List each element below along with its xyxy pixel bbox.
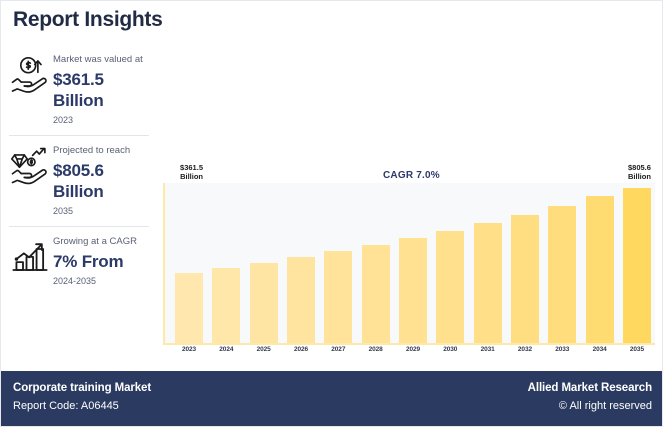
report-insights-infographic: Report Insights Market was valued at $36… [0,0,663,427]
footer-right: Allied Market Research © All right reser… [528,379,652,415]
chart-bar-2028[interactable] [362,183,390,343]
axis-tick-2026: 2026 [287,346,315,353]
bar-rect [175,273,203,343]
hand-holding-diamond-growth-arrow-icon [9,144,51,186]
chart-bar-2026[interactable] [287,183,315,343]
bar-rect [287,257,315,343]
bar-rect [436,231,464,343]
axis-tick-2033: 2033 [548,346,576,353]
stat-value-line2: Billion [53,181,161,202]
bar-rect [324,251,352,343]
chart-bar-2035[interactable]: $805.6Billion [623,183,651,343]
stat-value-line1: 7% From [53,251,161,272]
bar-value-label: $805.6Billion [628,163,651,181]
stat-period: 2024-2035 [53,274,161,288]
stat-divider-1 [9,135,149,136]
bar-rect [586,196,614,343]
stat-divider-2 [9,226,149,227]
stat-value-line1: $805.6 [53,160,161,181]
chart-bar-2027[interactable] [324,183,352,343]
stat-text-cagr: Growing at a CAGR 7% From 2024-2035 [53,235,161,288]
axis-tick-2034: 2034 [586,346,614,353]
chart-bar-2034[interactable] [586,183,614,343]
chart-bar-2029[interactable] [399,183,427,343]
chart-x-axis-labels: 2023202420252026202720282029203020312032… [167,346,655,353]
axis-tick-2035: 2035 [623,346,651,353]
axis-tick-2031: 2031 [474,346,502,353]
bar-chart-rising-arrow-icon [9,235,51,277]
chart-bar-2030[interactable] [436,183,464,343]
bar-rect [623,188,651,343]
bar-rect [511,215,539,343]
hand-holding-dollar-coin-up-arrow-icon [9,53,51,95]
stat-block-cagr: Growing at a CAGR 7% From 2024-2035 [1,235,161,288]
stat-caption: Projected to reach [53,144,161,158]
footer: Corporate training Market Report Code: A… [1,371,663,426]
chart-bar-2033[interactable] [548,183,576,343]
axis-tick-2023: 2023 [175,346,203,353]
axis-tick-2024: 2024 [212,346,240,353]
stat-period: 2035 [53,204,161,218]
bar-rect [399,238,427,343]
footer-brand: Allied Market Research [528,379,652,397]
stat-block-market-value: Market was valued at $361.5 Billion 2023 [1,53,161,127]
footer-rights: © All right reserved [528,397,652,415]
footer-left: Corporate training Market Report Code: A… [13,379,151,415]
axis-tick-2029: 2029 [399,346,427,353]
chart-bar-2023[interactable]: $361.5Billion [175,183,203,343]
chart-bar-2032[interactable] [511,183,539,343]
bar-rect [474,223,502,343]
axis-tick-2025: 2025 [250,346,278,353]
chart-bar-2024[interactable] [212,183,240,343]
axis-tick-2032: 2032 [511,346,539,353]
stat-value-line1: $361.5 [53,69,161,90]
axis-tick-2030: 2030 [436,346,464,353]
chart-bar-2025[interactable] [250,183,278,343]
footer-report-code: Report Code: A06445 [13,397,151,415]
bar-rect [250,263,278,343]
bar-rect [548,206,576,343]
bar-rect [362,245,390,343]
stat-text-projected-value: Projected to reach $805.6 Billion 2035 [53,144,161,218]
bar-value-label: $361.5Billion [180,163,203,181]
bar-rect [212,268,240,343]
chart-bar-2031[interactable] [474,183,502,343]
cagr-annotation: CAGR 7.0% [383,170,440,181]
stat-caption: Market was valued at [53,53,161,67]
stats-column: Market was valued at $361.5 Billion 2023 [1,53,161,288]
axis-tick-2027: 2027 [324,346,352,353]
stat-block-projected-value: Projected to reach $805.6 Billion 2035 [1,144,161,218]
stat-value-line2: Billion [53,90,161,111]
axis-tick-2028: 2028 [362,346,390,353]
stat-caption: Growing at a CAGR [53,235,161,249]
footer-report-name: Corporate training Market [13,379,151,397]
chart-bars: $361.5Billion$805.6Billion [167,183,655,343]
stat-text-market-value: Market was valued at $361.5 Billion 2023 [53,53,161,127]
page-title: Report Insights [13,8,163,32]
stat-period: 2023 [53,113,161,127]
